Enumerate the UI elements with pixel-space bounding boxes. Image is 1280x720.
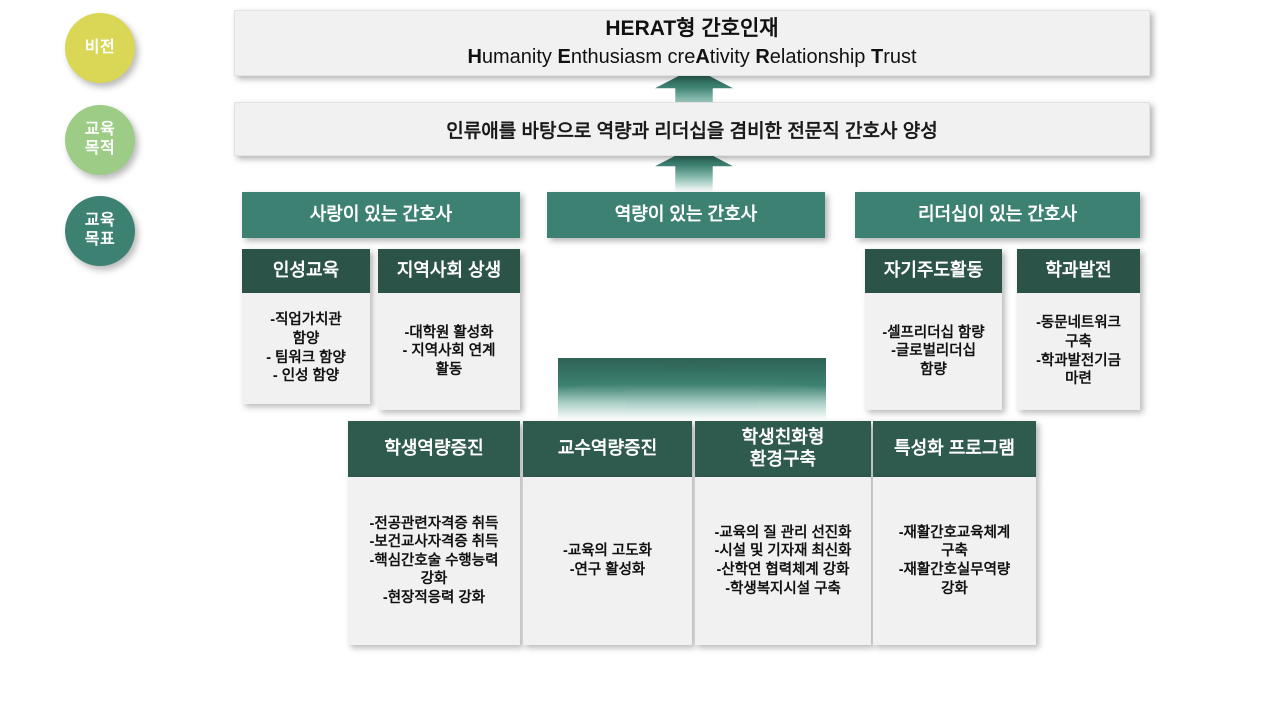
subcard-body-character-education: -직업가치관 함양 - 팀워크 함양 - 인성 함양 (242, 293, 370, 404)
subcard-body-department-development: -동문네트워크 구축 -학과발전기금 마련 (1017, 293, 1140, 410)
subcard-header-character-education[interactable]: 인성교육 (242, 249, 370, 293)
strategy-body-faculty-competency: -교육의 고도화 -연구 활성화 (523, 477, 692, 645)
subcard-body-text: -셀프리더십 함량 -글로벌리더십 함량 (882, 324, 984, 380)
subcard-title: 자기주도활동 (884, 260, 983, 282)
strategy-body-text: -전공관련자격증 취득 -보건교사자격증 취득 -핵심간호술 수행능력 강화 -… (370, 515, 499, 608)
subcard-header-department-development[interactable]: 학과발전 (1017, 249, 1140, 293)
pillar-nurse-with-competency[interactable]: 역량이 있는 간호사 (547, 192, 825, 238)
subcard-title: 지역사회 상생 (397, 260, 501, 282)
subcard-title: 학과발전 (1045, 260, 1111, 282)
strategy-title: 학생역량증진 (384, 438, 483, 460)
strategy-body-text: -재활간호교육체계 구축 -재활간호실무역량 강화 (899, 524, 1011, 598)
subcard-header-community-coexistence[interactable]: 지역사회 상생 (378, 249, 520, 293)
pillar-label: 사랑이 있는 간호사 (310, 204, 452, 226)
strategy-header-student-friendly-environment[interactable]: 학생친화형 환경구축 (695, 421, 871, 477)
pillar-label: 리더십이 있는 간호사 (918, 204, 1077, 226)
purpose-text: 인류애를 바탕으로 역량과 리더십을 겸비한 전문직 간호사 양성 (446, 116, 937, 143)
strategy-body-student-friendly-environment: -교육의 질 관리 선진화 -시설 및 기자재 최신화 -산학연 협력체계 강화… (695, 477, 871, 645)
strategy-title: 교수역량증진 (558, 438, 657, 460)
sidebar-item-label: 교육 목적 (85, 121, 115, 159)
strategy-body-text: -교육의 질 관리 선진화 -시설 및 기자재 최신화 -산학연 협력체계 강화… (715, 524, 852, 598)
subcard-body-self-directed-activity: -셀프리더십 함량 -글로벌리더십 함량 (865, 293, 1002, 410)
subcard-header-self-directed-activity[interactable]: 자기주도활동 (865, 249, 1002, 293)
pillar-nurse-with-leadership[interactable]: 리더십이 있는 간호사 (855, 192, 1140, 238)
strategy-header-specialization-program[interactable]: 특성화 프로그램 (873, 421, 1036, 477)
page-title: HERAT형 간호인재 (605, 15, 778, 43)
sidebar-item-label: 교육 목표 (85, 212, 115, 250)
sidebar-item-education-goal[interactable]: 교육 목표 (65, 196, 135, 266)
subcard-title: 인성교육 (273, 260, 339, 282)
subcard-body-text: -동문네트워크 구축 -학과발전기금 마련 (1036, 314, 1121, 388)
subcard-body-community-coexistence: -대학원 활성화 - 지역사회 연계 활동 (378, 293, 520, 410)
strategy-body-specialization-program: -재활간호교육체계 구축 -재활간호실무역량 강화 (873, 477, 1036, 645)
vision-acronym: Humanity Enthusiasm creAtivity Relations… (467, 44, 916, 71)
sidebar-item-label: 비전 (85, 39, 115, 58)
strategy-body-text: -교육의 고도화 -연구 활성화 (563, 542, 652, 579)
purpose-panel: 인류애를 바탕으로 역량과 리더십을 겸비한 전문직 간호사 양성 (234, 102, 1150, 156)
strategy-body-student-competency: -전공관련자격증 취득 -보건교사자격증 취득 -핵심간호술 수행능력 강화 -… (348, 477, 520, 645)
strategy-header-faculty-competency[interactable]: 교수역량증진 (523, 421, 692, 477)
pillar-nurse-with-love[interactable]: 사랑이 있는 간호사 (242, 192, 520, 238)
pillar-label: 역량이 있는 간호사 (615, 204, 757, 226)
subcard-body-text: -대학원 활성화 - 지역사회 연계 활동 (403, 324, 496, 380)
diagram-canvas: 비전 교육 목적 교육 목표 HERAT형 간호인재 Humanity Enth… (0, 0, 1280, 720)
sidebar-item-vision[interactable]: 비전 (65, 13, 135, 83)
strategy-title: 특성화 프로그램 (894, 438, 1015, 460)
vision-panel: HERAT형 간호인재 Humanity Enthusiasm creAtivi… (234, 10, 1150, 76)
subcard-body-text: -직업가치관 함양 - 팀워크 함양 - 인성 함양 (266, 311, 346, 385)
sidebar-item-education-purpose[interactable]: 교육 목적 (65, 105, 135, 175)
strategy-header-student-competency[interactable]: 학생역량증진 (348, 421, 520, 477)
strategy-title: 학생친화형 환경구축 (742, 427, 825, 470)
arrow-wide-up-to-pillars (558, 358, 826, 420)
